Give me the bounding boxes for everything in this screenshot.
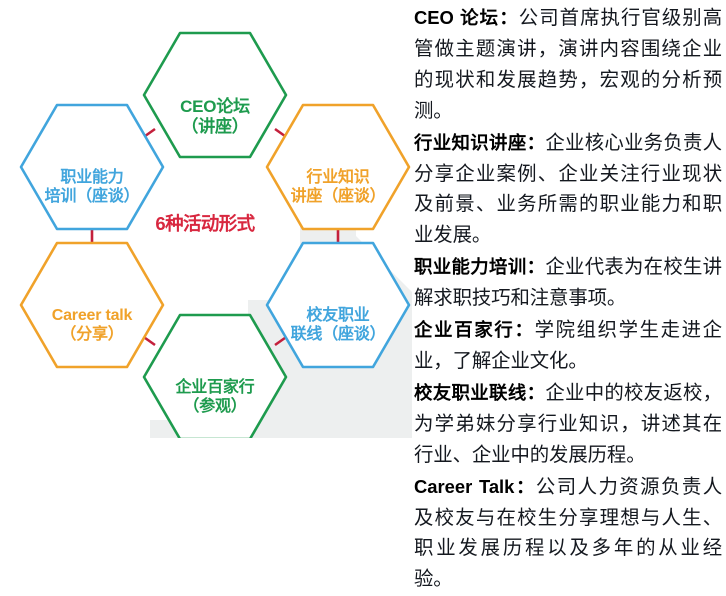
hexagon-career-talk[interactable] (21, 243, 163, 367)
description-term: 行业知识讲座 (414, 132, 527, 153)
hexagon-label-line2: （讲座） (125, 117, 305, 137)
description-panel: CEO 论坛：公司首席执行官级别高管做主题演讲，演讲内容围绕企业的现状和发展趋势… (412, 0, 726, 438)
description-enterprise-visit: 企业百家行：学院组织学生走进企业，了解企业文化。 (414, 315, 722, 378)
description-separator: ： (514, 476, 536, 497)
description-term: 企业百家行 (414, 319, 515, 340)
description-term: 校友职业联线 (414, 382, 527, 403)
hexagon-label-line1: 校友职业 (248, 307, 428, 326)
description-alumni-career-link: 校友职业联线：企业中的校友返校，为学弟妹分享行业知识，讲述其在行业、企业中的发展… (414, 378, 722, 472)
hexagon-label-line1: Career talk (2, 307, 182, 326)
hexagon-label-line1: 职业能力 (2, 169, 182, 188)
description-ceo-forum: CEO 论坛：公司首席执行官级别高管做主题演讲，演讲内容围绕企业的现状和发展趋势… (414, 3, 722, 128)
description-term: CEO 论坛 (414, 7, 499, 28)
description-separator: ： (499, 7, 519, 28)
slide-canvas: CEO论坛（讲座）职业能力培训（座谈）行业知识讲座（座谈）Career talk… (0, 0, 726, 438)
hexagon-diagram: CEO论坛（讲座）职业能力培训（座谈）行业知识讲座（座谈）Career talk… (0, 0, 412, 438)
hexagon-label-line2: 联线（座谈） (248, 326, 428, 345)
hexagon-label-line2: 讲座（座谈） (248, 188, 428, 207)
hexagon-label-line1: CEO论坛 (125, 97, 305, 117)
description-career-talk: Career Talk：公司人力资源负责人及校友与在校生分享理想与人生、职业发展… (414, 472, 722, 596)
description-career-ability-training: 职业能力培训：企业代表为在校生讲解求职技巧和注意事项。 (414, 252, 722, 315)
description-separator: ： (527, 382, 546, 403)
hexagon-label-line2: （分享） (2, 326, 182, 345)
description-separator: ： (527, 132, 546, 153)
description-industry-knowledge-lecture: 行业知识讲座：企业核心业务负责人分享企业案例、企业关注行业现状及前景、业务所需的… (414, 128, 722, 253)
hexagon-label-line1: 企业百家行 (125, 379, 305, 398)
hexagon-label-line2: 培训（座谈） (2, 188, 182, 207)
description-term: Career Talk (414, 476, 514, 497)
description-term: 职业能力培训 (414, 256, 527, 277)
hexagon-ceo-forum[interactable] (144, 33, 286, 157)
center-label: 6种活动形式 (115, 210, 295, 236)
description-separator: ： (527, 256, 546, 277)
hexagon-label-line2: （参观） (125, 398, 305, 417)
description-separator: ： (515, 319, 535, 340)
hexagon-label-line1: 行业知识 (248, 169, 428, 188)
